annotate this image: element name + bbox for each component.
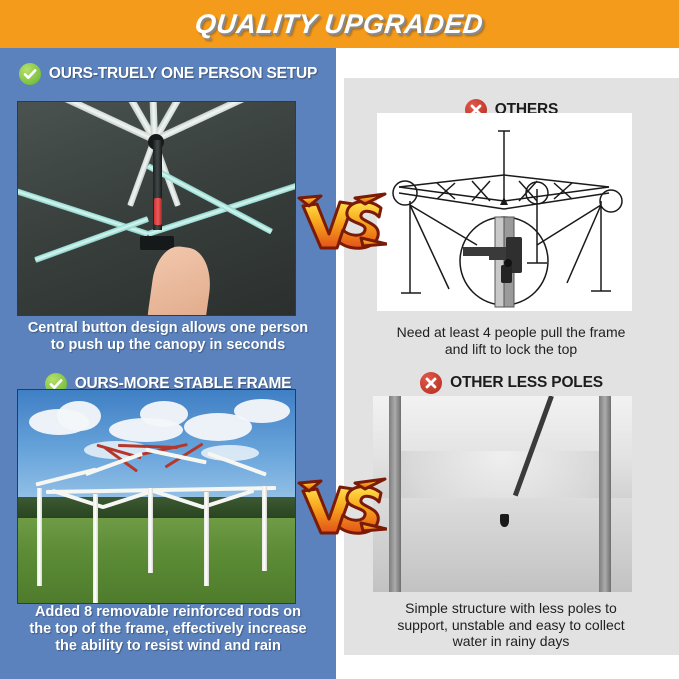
ours-section-1-heading: OURS-TRUELY ONE PERSON SETUP — [49, 65, 317, 83]
grass-field — [18, 518, 295, 603]
others-section-2-caption: Simple structure with less poles to supp… — [350, 600, 672, 650]
x-circle-icon — [420, 372, 442, 394]
ours-section-1-image — [17, 101, 296, 316]
ours-section-1-header: OURS-TRUELY ONE PERSON SETUP — [0, 56, 336, 91]
check-circle-icon — [19, 63, 41, 85]
water-drip — [500, 514, 509, 527]
infographic-page: QUALITY UPGRADED OURS-TRUELY ONE PERSON … — [0, 0, 679, 679]
corner-post-left — [389, 396, 401, 592]
ours-section-2-caption: Added 8 removable reinforced rods on the… — [8, 604, 328, 655]
others-section-2-header: OTHER LESS POLES — [344, 372, 679, 394]
caption-line: support, unstable and easy to collect — [350, 617, 672, 634]
lower-hub — [140, 236, 174, 250]
caption-line: the ability to resist wind and rain — [8, 638, 328, 655]
red-push-button — [154, 198, 162, 225]
frame-diagram — [377, 113, 632, 311]
ours-section-2-image — [17, 389, 296, 604]
caption-line: Need at least 4 people pull the frame — [350, 324, 672, 341]
others-section-1-image — [377, 113, 632, 311]
others-section-2-heading: OTHER LESS POLES — [450, 374, 603, 392]
caption-line: water in rainy days — [350, 633, 672, 650]
treeline — [18, 497, 295, 520]
side-wall — [373, 498, 632, 592]
caption-line: Central button design allows one person — [8, 320, 328, 337]
caption-line: and lift to lock the top — [350, 341, 672, 358]
others-section-2-image — [373, 396, 632, 592]
vs-badge-bottom — [295, 477, 387, 539]
page-title: QUALITY UPGRADED — [194, 9, 485, 40]
corner-post-right — [599, 396, 611, 592]
caption-line: Simple structure with less poles to — [350, 600, 672, 617]
header-banner: QUALITY UPGRADED — [0, 0, 679, 48]
caption-line: Added 8 removable reinforced rods on — [8, 604, 328, 621]
caption-line: the top of the frame, effectively increa… — [8, 621, 328, 638]
vs-badge-top — [295, 192, 387, 254]
caption-line: to push up the canopy in seconds — [8, 337, 328, 354]
ours-section-1-caption: Central button design allows one person … — [8, 320, 328, 354]
others-section-1-caption: Need at least 4 people pull the frame an… — [350, 324, 672, 357]
